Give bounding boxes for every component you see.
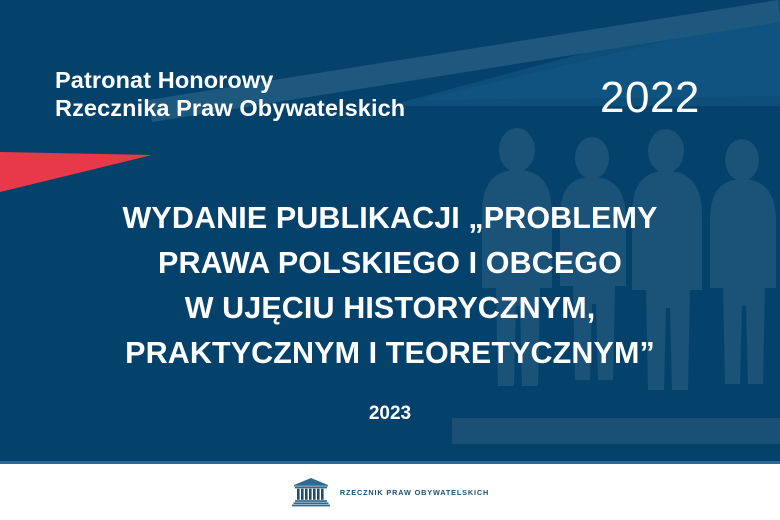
footer-bar: RZECZNIK PRAW OBYWATELSKICH [0, 464, 780, 520]
header-line-2: Rzecznika Praw Obywatelskich [55, 94, 525, 122]
organization-logo: RZECZNIK PRAW OBYWATELSKICH [291, 477, 489, 507]
subtitle-year: 2023 [20, 402, 760, 426]
main-title-line-2: PRAWA POLSKIEGO I OBCEGO [20, 241, 760, 286]
classical-building-icon [291, 477, 331, 507]
banner-background: Patronat Honorowy Rzecznika Praw Obywate… [0, 0, 780, 464]
organization-name: RZECZNIK PRAW OBYWATELSKICH [340, 488, 489, 497]
red-arrow-decoration [0, 148, 160, 193]
main-title-line-1: WYDANIE PUBLIKACJI „PROBLEMY [20, 196, 760, 241]
main-title: WYDANIE PUBLIKACJI „PROBLEMY PRAWA POLSK… [20, 196, 760, 376]
header-line-1: Patronat Honorowy [55, 66, 525, 94]
poster-canvas: Patronat Honorowy Rzecznika Praw Obywate… [0, 0, 780, 520]
main-title-line-4: PRAKTYCZNYM I TEORETYCZNYM” [20, 331, 760, 376]
main-title-line-3: W UJĘCIU HISTORYCZNYM, [20, 286, 760, 331]
year-badge: 2022 [600, 74, 740, 122]
header-block: Patronat Honorowy Rzecznika Praw Obywate… [55, 66, 525, 122]
